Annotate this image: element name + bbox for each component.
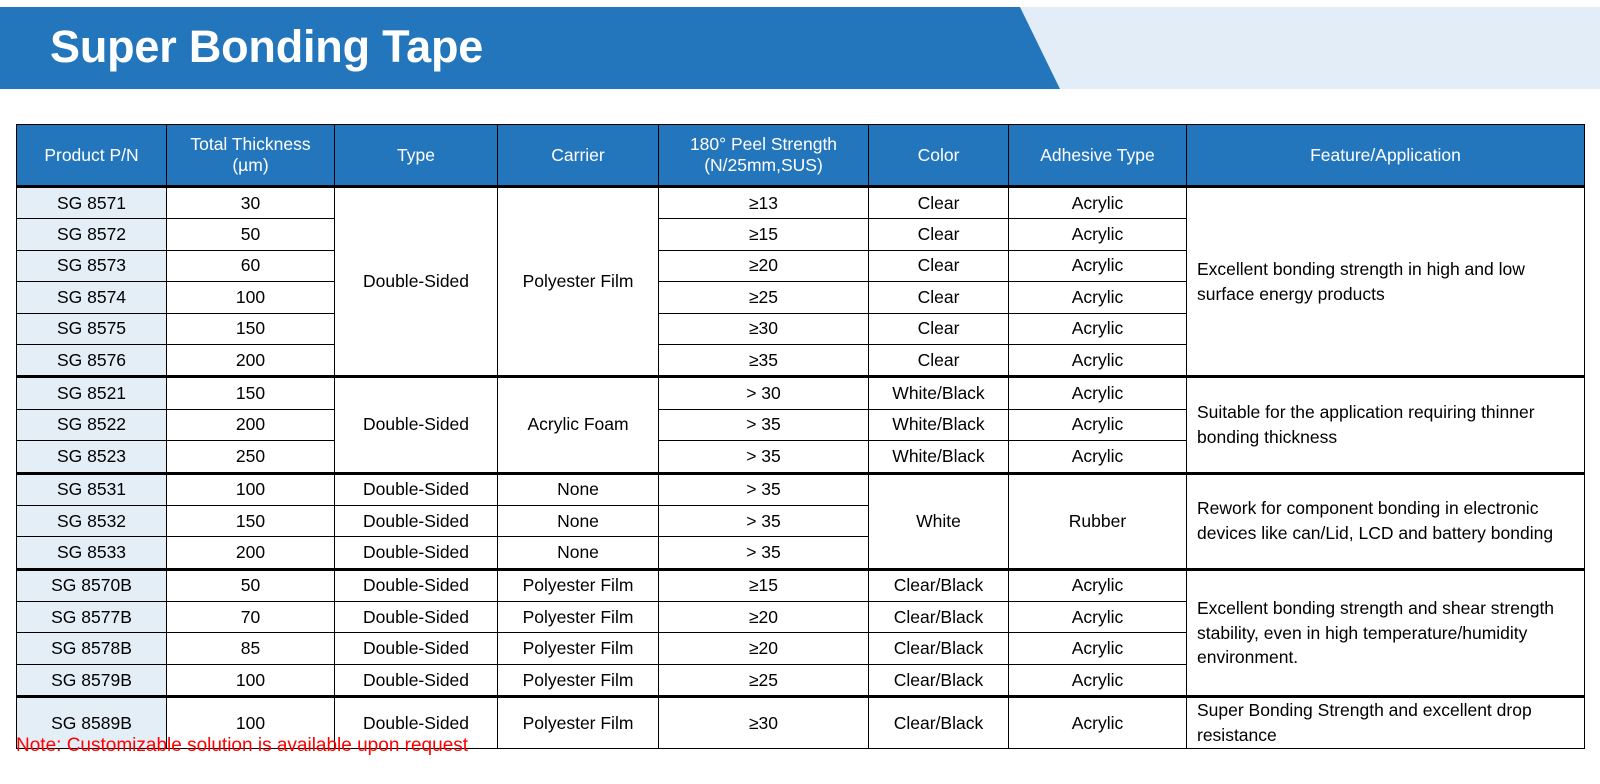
cell-color: White/Black	[869, 409, 1009, 440]
cell-adhesive-type: Acrylic	[1009, 569, 1187, 601]
table-header: Product P/N Total Thickness (µm) Type Ca…	[17, 125, 1585, 187]
cell-peel-strength: ≥30	[659, 313, 869, 344]
cell-product-pn: SG 8533	[17, 537, 167, 569]
cell-peel-strength: ≥25	[659, 664, 869, 696]
table-row: SG 857130Double-SidedPolyester Film≥13Cl…	[17, 187, 1585, 219]
cell-product-pn: SG 8574	[17, 282, 167, 313]
cell-total-thickness: 150	[167, 505, 335, 536]
cell-peel-strength: ≥15	[659, 569, 869, 601]
cell-type: Double-Sided	[335, 664, 498, 696]
cell-product-pn: SG 8578B	[17, 633, 167, 664]
cell-type: Double-Sided	[335, 473, 498, 505]
cell-adhesive-type: Acrylic	[1009, 377, 1187, 409]
cell-product-pn: SG 8572	[17, 219, 167, 250]
cell-total-thickness: 85	[167, 633, 335, 664]
table-body: SG 857130Double-SidedPolyester Film≥13Cl…	[17, 187, 1585, 749]
cell-peel-strength: > 35	[659, 441, 869, 473]
product-specification-table: Product P/N Total Thickness (µm) Type Ca…	[16, 124, 1585, 749]
cell-peel-strength: ≥30	[659, 697, 869, 749]
table-row: SG 8521150Double-SidedAcrylic Foam> 30Wh…	[17, 377, 1585, 409]
cell-product-pn: SG 8532	[17, 505, 167, 536]
cell-total-thickness: 50	[167, 219, 335, 250]
cell-peel-strength: ≥35	[659, 344, 869, 376]
table-row: SG 8570B50Double-SidedPolyester Film≥15C…	[17, 569, 1585, 601]
cell-color: Clear/Black	[869, 697, 1009, 749]
column-header-feature-application: Feature/Application	[1187, 125, 1585, 187]
cell-adhesive-type: Acrylic	[1009, 409, 1187, 440]
cell-color: White/Black	[869, 377, 1009, 409]
table-header-row: Product P/N Total Thickness (µm) Type Ca…	[17, 125, 1585, 187]
cell-total-thickness: 200	[167, 344, 335, 376]
cell-type: Double-Sided	[335, 569, 498, 601]
cell-adhesive-type: Rubber	[1009, 473, 1187, 569]
cell-product-pn: SG 8531	[17, 473, 167, 505]
cell-type: Double-Sided	[335, 633, 498, 664]
column-header-adhesive-type: Adhesive Type	[1009, 125, 1187, 187]
column-header-type: Type	[335, 125, 498, 187]
cell-feature-application: Suitable for the application requiring t…	[1187, 377, 1585, 473]
cell-peel-strength: > 35	[659, 409, 869, 440]
cell-color: Clear/Black	[869, 664, 1009, 696]
cell-color: Clear/Black	[869, 633, 1009, 664]
cell-product-pn: SG 8522	[17, 409, 167, 440]
cell-total-thickness: 200	[167, 537, 335, 569]
cell-carrier: Polyester Film	[498, 602, 659, 633]
cell-color: Clear	[869, 187, 1009, 219]
cell-type: Double-Sided	[335, 602, 498, 633]
cell-peel-strength: ≥20	[659, 633, 869, 664]
cell-peel-strength: > 35	[659, 505, 869, 536]
column-header-peel-strength: 180° Peel Strength (N/25mm,SUS)	[659, 125, 869, 187]
cell-color: Clear	[869, 282, 1009, 313]
cell-peel-strength: ≥25	[659, 282, 869, 313]
column-header-color: Color	[869, 125, 1009, 187]
cell-total-thickness: 100	[167, 282, 335, 313]
cell-color: White	[869, 473, 1009, 569]
cell-type: Double-Sided	[335, 187, 498, 377]
cell-color: White/Black	[869, 441, 1009, 473]
cell-adhesive-type: Acrylic	[1009, 313, 1187, 344]
cell-carrier: None	[498, 505, 659, 536]
cell-product-pn: SG 8579B	[17, 664, 167, 696]
cell-carrier: Acrylic Foam	[498, 377, 659, 473]
cell-adhesive-type: Acrylic	[1009, 187, 1187, 219]
cell-adhesive-type: Acrylic	[1009, 250, 1187, 281]
cell-total-thickness: 200	[167, 409, 335, 440]
cell-total-thickness: 150	[167, 313, 335, 344]
cell-adhesive-type: Acrylic	[1009, 344, 1187, 376]
cell-carrier: Polyester Film	[498, 697, 659, 749]
cell-adhesive-type: Acrylic	[1009, 219, 1187, 250]
column-header-carrier: Carrier	[498, 125, 659, 187]
cell-product-pn: SG 8523	[17, 441, 167, 473]
cell-total-thickness: 100	[167, 473, 335, 505]
cell-peel-strength: ≥20	[659, 602, 869, 633]
cell-feature-application: Excellent bonding strength in high and l…	[1187, 187, 1585, 377]
cell-total-thickness: 30	[167, 187, 335, 219]
cell-feature-application: Rework for component bonding in electron…	[1187, 473, 1585, 569]
cell-adhesive-type: Acrylic	[1009, 664, 1187, 696]
cell-carrier: None	[498, 537, 659, 569]
cell-carrier: Polyester Film	[498, 664, 659, 696]
cell-product-pn: SG 8575	[17, 313, 167, 344]
cell-adhesive-type: Acrylic	[1009, 282, 1187, 313]
table-row: SG 8531100Double-SidedNone> 35WhiteRubbe…	[17, 473, 1585, 505]
cell-adhesive-type: Acrylic	[1009, 697, 1187, 749]
cell-carrier: Polyester Film	[498, 569, 659, 601]
cell-total-thickness: 250	[167, 441, 335, 473]
cell-feature-application: Super Bonding Strength and excellent dro…	[1187, 697, 1585, 749]
column-header-product-pn: Product P/N	[17, 125, 167, 187]
cell-product-pn: SG 8577B	[17, 602, 167, 633]
cell-peel-strength: > 30	[659, 377, 869, 409]
cell-type: Double-Sided	[335, 505, 498, 536]
cell-adhesive-type: Acrylic	[1009, 602, 1187, 633]
cell-product-pn: SG 8570B	[17, 569, 167, 601]
cell-carrier: Polyester Film	[498, 633, 659, 664]
cell-carrier: Polyester Film	[498, 187, 659, 377]
cell-total-thickness: 100	[167, 664, 335, 696]
cell-peel-strength: > 35	[659, 473, 869, 505]
cell-type: Double-Sided	[335, 377, 498, 473]
cell-total-thickness: 150	[167, 377, 335, 409]
cell-feature-application: Excellent bonding strength and shear str…	[1187, 569, 1585, 697]
cell-peel-strength: ≥20	[659, 250, 869, 281]
column-header-total-thickness: Total Thickness (µm)	[167, 125, 335, 187]
cell-adhesive-type: Acrylic	[1009, 633, 1187, 664]
page-title: Super Bonding Tape	[50, 7, 483, 89]
page-header-banner: Super Bonding Tape	[0, 7, 1600, 89]
cell-total-thickness: 60	[167, 250, 335, 281]
cell-total-thickness: 70	[167, 602, 335, 633]
cell-color: Clear	[869, 344, 1009, 376]
cell-peel-strength: ≥13	[659, 187, 869, 219]
note-customizable-solution: Note: Customizable solution is available…	[16, 735, 468, 757]
cell-adhesive-type: Acrylic	[1009, 441, 1187, 473]
cell-color: Clear/Black	[869, 602, 1009, 633]
cell-color: Clear	[869, 219, 1009, 250]
cell-product-pn: SG 8521	[17, 377, 167, 409]
cell-product-pn: SG 8571	[17, 187, 167, 219]
cell-color: Clear	[869, 313, 1009, 344]
cell-total-thickness: 50	[167, 569, 335, 601]
cell-carrier: None	[498, 473, 659, 505]
cell-product-pn: SG 8576	[17, 344, 167, 376]
cell-color: Clear	[869, 250, 1009, 281]
cell-product-pn: SG 8573	[17, 250, 167, 281]
cell-peel-strength: ≥15	[659, 219, 869, 250]
cell-color: Clear/Black	[869, 569, 1009, 601]
cell-type: Double-Sided	[335, 537, 498, 569]
cell-peel-strength: > 35	[659, 537, 869, 569]
